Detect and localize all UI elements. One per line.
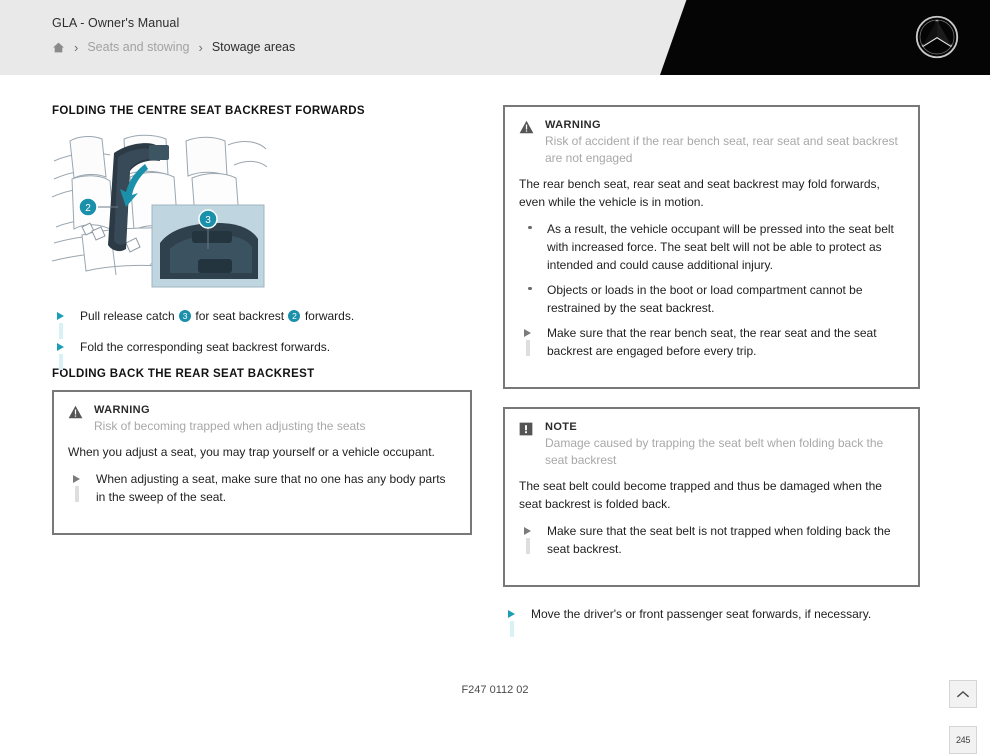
step-marker bbox=[52, 307, 80, 320]
warning-box-left: WARNING Risk of becoming trapped when ad… bbox=[52, 390, 472, 535]
page-number-button[interactable]: 245 bbox=[949, 726, 977, 754]
list-item: Fold the corresponding seat backrest for… bbox=[52, 338, 472, 357]
breadcrumb: › Seats and stowing › Stowage areas bbox=[52, 40, 295, 54]
step-marker-bar bbox=[59, 354, 63, 370]
right-column: WARNING Risk of accident if the rear ben… bbox=[503, 105, 920, 636]
warning-box-header: WARNING Risk of accident if the rear ben… bbox=[519, 119, 904, 168]
breadcrumb-separator-1: › bbox=[74, 41, 78, 54]
callout-badge-2: 2 bbox=[288, 310, 300, 322]
list-item: Make sure that the seat belt is not trap… bbox=[519, 522, 904, 559]
svg-text:3: 3 bbox=[205, 215, 211, 226]
step-marker-bar bbox=[59, 323, 63, 339]
figure-code: F247 0112 02 bbox=[0, 684, 990, 696]
warning-triangle-icon bbox=[519, 119, 535, 139]
page-title: FOLDING THE CENTRE SEAT BACKREST FORWARD… bbox=[52, 105, 472, 117]
section-title-folding-back: FOLDING BACK THE REAR SEAT BACKREST bbox=[52, 368, 472, 380]
warning-subtitle: Risk of becoming trapped when adjusting … bbox=[94, 418, 456, 435]
callout-badge-3: 3 bbox=[179, 310, 191, 322]
bullet-marker bbox=[519, 281, 547, 291]
action-triangle-icon bbox=[508, 610, 515, 618]
document-page: FOLDING THE CENTRE SEAT BACKREST FORWARD… bbox=[0, 75, 990, 700]
warning-box-header: WARNING Risk of becoming trapped when ad… bbox=[68, 404, 456, 435]
step-marker-bar bbox=[510, 621, 514, 637]
warning-label: WARNING bbox=[545, 119, 904, 131]
page-header: GLA - Owner's Manual › Seats and stowing… bbox=[0, 0, 990, 75]
list-item: Make sure that the rear bench seat, the … bbox=[519, 324, 904, 361]
list-item: Objects or loads in the boot or load com… bbox=[519, 281, 904, 317]
warning-body: When you adjust a seat, you may trap you… bbox=[68, 443, 456, 461]
step-text: Fold the corresponding seat backrest for… bbox=[80, 338, 330, 357]
step-marker-bar bbox=[526, 538, 530, 554]
note-action-text: Make sure that the seat belt is not trap… bbox=[547, 522, 904, 559]
rear-seat-backrest-illustration: 2 3 bbox=[52, 131, 267, 291]
action-triangle-icon bbox=[524, 329, 531, 337]
warning-action-text: When adjusting a seat, make sure that no… bbox=[96, 470, 456, 507]
step-marker bbox=[503, 605, 531, 618]
step-marker bbox=[519, 324, 547, 337]
action-triangle-icon bbox=[524, 527, 531, 535]
action-triangle-icon bbox=[57, 312, 64, 320]
warning-action-text: Make sure that the rear bench seat, the … bbox=[547, 324, 904, 361]
note-box-header: NOTE Damage caused by trapping the seat … bbox=[519, 421, 904, 470]
step-text-after: forwards. bbox=[305, 309, 354, 323]
step-marker-bar bbox=[526, 340, 530, 356]
list-item: When adjusting a seat, make sure that no… bbox=[68, 470, 456, 507]
left-column: FOLDING THE CENTRE SEAT BACKREST FORWARD… bbox=[52, 105, 472, 553]
warning-triangle-icon bbox=[68, 404, 84, 424]
warning-box-right: WARNING Risk of accident if the rear ben… bbox=[503, 105, 920, 389]
list-item: Pull release catch 3 for seat backrest 2… bbox=[52, 307, 472, 326]
mercedes-benz-star-icon bbox=[914, 14, 960, 60]
warning-bullet-list: As a result, the vehicle occupant will b… bbox=[519, 220, 904, 317]
bullet-dot-icon bbox=[528, 226, 532, 230]
warning-label: WARNING bbox=[94, 404, 456, 416]
note-body: The seat belt could become trapped and t… bbox=[519, 477, 904, 513]
final-step-text: Move the driver's or front passenger sea… bbox=[531, 605, 871, 624]
bullet-marker bbox=[519, 220, 547, 230]
list-item: As a result, the vehicle occupant will b… bbox=[519, 220, 904, 274]
svg-text:2: 2 bbox=[85, 203, 91, 214]
action-triangle-icon bbox=[73, 475, 80, 483]
step-marker-bar bbox=[75, 486, 79, 502]
bullet-dot-icon bbox=[528, 287, 532, 291]
note-box: NOTE Damage caused by trapping the seat … bbox=[503, 407, 920, 587]
final-instruction-step: Move the driver's or front passenger sea… bbox=[503, 605, 920, 624]
breadcrumb-item-stowage-areas[interactable]: Stowage areas bbox=[212, 40, 295, 54]
bullet-text: As a result, the vehicle occupant will b… bbox=[547, 220, 904, 274]
home-icon[interactable] bbox=[52, 41, 65, 54]
warning-body: The rear bench seat, rear seat and seat … bbox=[519, 175, 904, 211]
breadcrumb-separator-2: › bbox=[199, 41, 203, 54]
page-number-label: 245 bbox=[956, 735, 970, 745]
step-marker bbox=[519, 522, 547, 535]
breadcrumb-item-seats-and-stowing[interactable]: Seats and stowing bbox=[87, 40, 189, 54]
action-triangle-icon bbox=[57, 343, 64, 351]
step-text-middle: for seat backrest bbox=[195, 309, 284, 323]
bullet-text: Objects or loads in the boot or load com… bbox=[547, 281, 904, 317]
note-subtitle: Damage caused by trapping the seat belt … bbox=[545, 435, 904, 470]
note-exclamation-icon bbox=[519, 421, 535, 441]
warning-subtitle: Risk of accident if the rear bench seat,… bbox=[545, 133, 904, 168]
step-marker bbox=[52, 338, 80, 351]
instruction-steps: Pull release catch 3 for seat backrest 2… bbox=[52, 307, 472, 356]
step-text: Pull release catch 3 for seat backrest 2… bbox=[80, 307, 354, 326]
step-text-before: Pull release catch bbox=[80, 309, 175, 323]
note-label: NOTE bbox=[545, 421, 904, 433]
step-marker bbox=[68, 470, 96, 483]
manual-title: GLA - Owner's Manual bbox=[52, 16, 295, 30]
